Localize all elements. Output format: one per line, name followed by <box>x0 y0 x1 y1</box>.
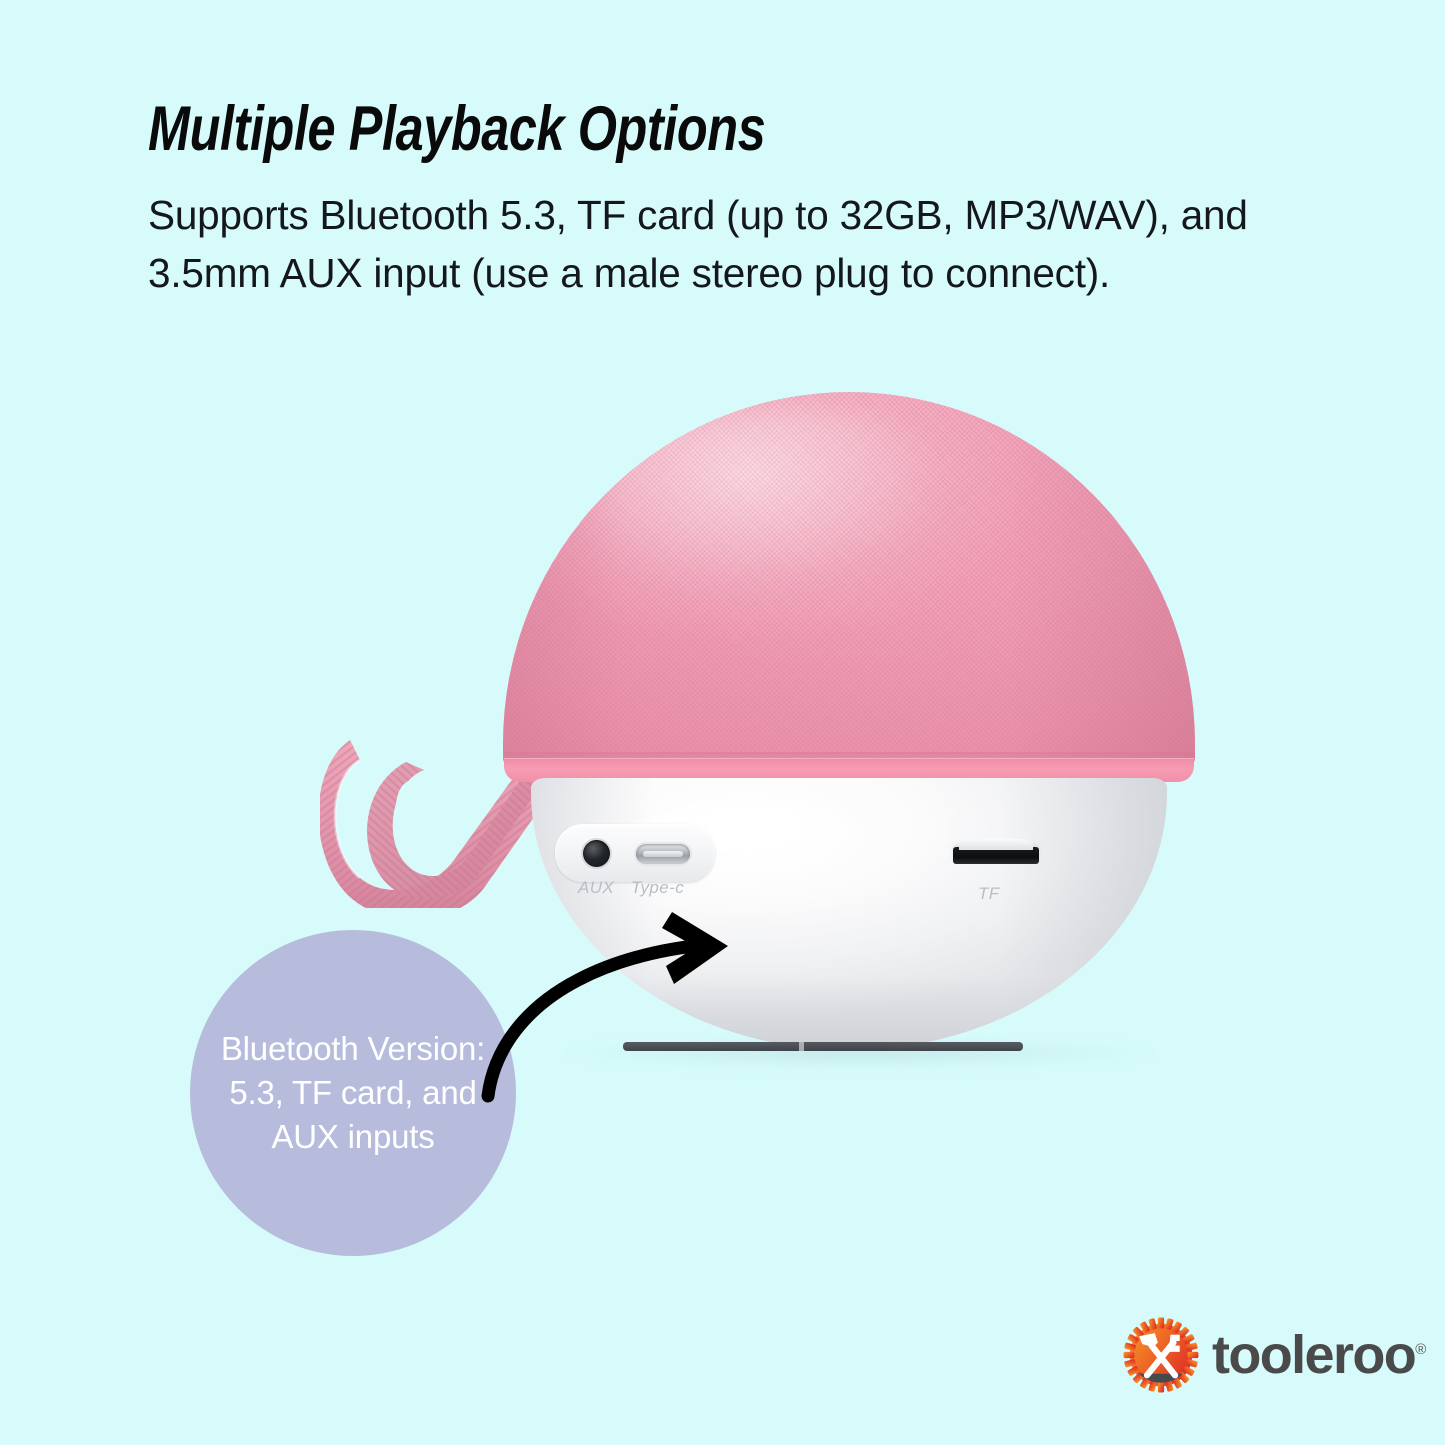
tf-slot-label: TF <box>978 884 1000 904</box>
tf-card-slot <box>953 847 1039 864</box>
speaker-dome <box>503 392 1195 772</box>
aux-port <box>583 840 610 867</box>
dome-right-shading <box>974 392 1195 772</box>
callout-arrow <box>460 900 800 1130</box>
wordmark-text: tooleroo <box>1212 1325 1415 1385</box>
tooleroo-wordmark: tooleroo® <box>1212 1328 1426 1382</box>
tooleroo-gear-icon <box>1122 1316 1200 1394</box>
registered-mark: ® <box>1415 1341 1426 1358</box>
port-recess-panel <box>555 824 715 882</box>
type-c-port-label: Type-c <box>631 878 684 898</box>
product-image: AUX Type-c TF <box>0 0 1445 1445</box>
product-feature-graphic: Multiple Playback Options Supports Bluet… <box>0 0 1445 1445</box>
type-c-port <box>636 844 690 864</box>
aux-port-label: AUX <box>578 878 614 898</box>
brand-logo: tooleroo® <box>1122 1312 1422 1398</box>
dome-highlight <box>586 407 974 605</box>
